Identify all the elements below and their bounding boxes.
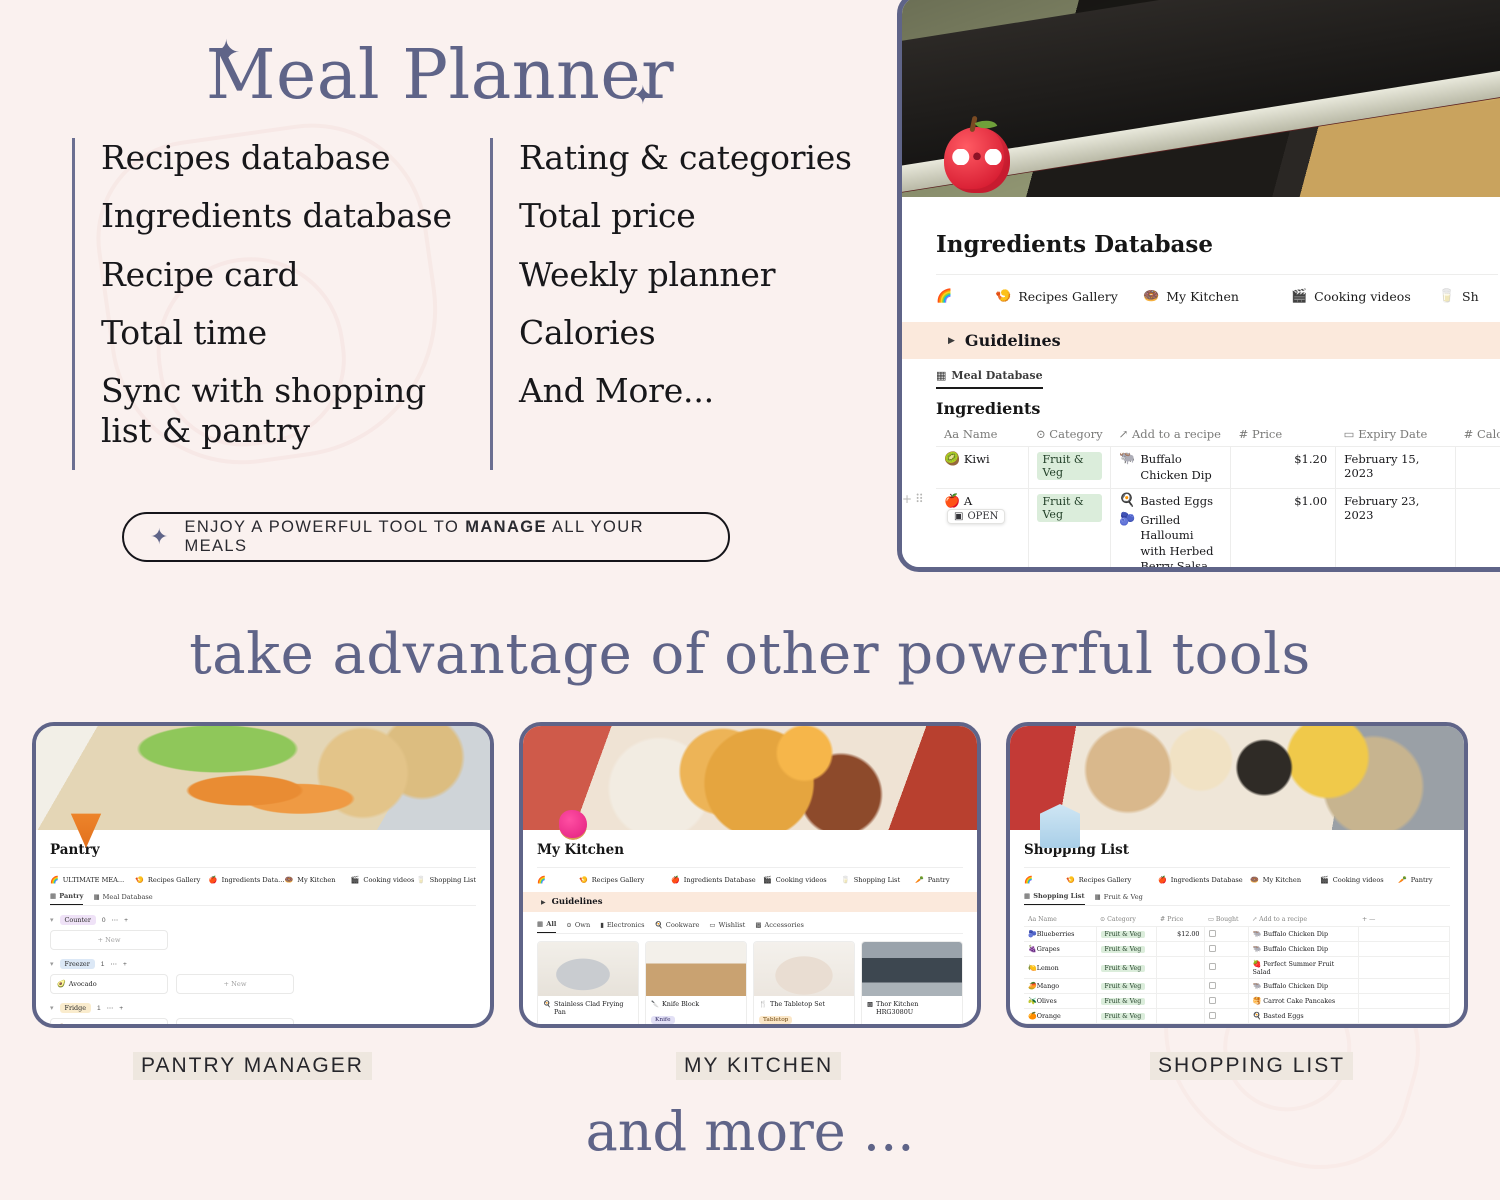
table-row[interactable]: 🥝 Kiwi Fruit & Veg 🐃Buffalo Chicken Dip … [936, 447, 1500, 489]
nav-item-recipes-gallery[interactable]: 🍤Recipes Gallery [1066, 876, 1158, 884]
pantry-manager-card: Pantry 🌈ULTIMATE MEA... 🍤Recipes Gallery… [32, 722, 494, 1028]
open-button[interactable]: ▣OPEN [947, 509, 1005, 524]
group-header[interactable]: ▾ Freezer 1 ⋯ + [50, 959, 476, 969]
column-header-calories[interactable]: # Calorie [1456, 422, 1500, 447]
product-card[interactable]: 🍳Stainless Clad Frying Pan Cookware Made… [537, 941, 639, 1028]
feature-item: Recipes database [101, 138, 468, 178]
tab-fruit-veg[interactable]: ▦Fruit & Veg [1095, 892, 1143, 905]
cell-price[interactable] [1156, 994, 1204, 1009]
group-items: + New [50, 930, 476, 950]
product-tag: Tabletop [759, 1016, 792, 1024]
table-row[interactable]: 🍑Peach Fruit & Veg 🥑 Guacamole [1024, 1024, 1450, 1029]
cell-expiry[interactable]: February 15, 2023 [1336, 447, 1456, 489]
table-header-row: Aa Name ⊙ Category # Price ▭ Bought ↗ Ad… [1024, 913, 1450, 927]
category-badge: Fruit & Veg [1101, 998, 1146, 1005]
nav-label: Recipes Gallery [1018, 289, 1117, 304]
tab-meal-database[interactable]: ▦Meal Database [93, 892, 152, 905]
feature-item: And More... [519, 371, 860, 411]
nav-label: Ingredients Data... [222, 876, 285, 884]
pantry-body: Pantry 🌈ULTIMATE MEA... 🍤Recipes Gallery… [36, 830, 490, 1028]
nav-item-my-kitchen[interactable]: 🍩My Kitchen [1250, 876, 1320, 884]
column-header-actions[interactable]: + — [1358, 913, 1450, 927]
gallery-icon: ▦ [537, 920, 543, 928]
ingredient-name: A [964, 494, 972, 508]
tab-shopping-list[interactable]: ▦Shopping List [1024, 892, 1085, 905]
product-name: Knife Block [662, 1000, 699, 1008]
group-items: 🥑Avocado + New [50, 974, 476, 994]
date-icon: ▭ [1344, 427, 1355, 441]
pan-icon: 🍳 [655, 921, 663, 929]
column-header-add-to-recipe[interactable]: ↗ Add to a recipe [1111, 422, 1231, 447]
product-info: 🍳Stainless Clad Frying Pan Cookware Made… [538, 996, 638, 1028]
page-nav: 🌈ULTIMATE MEA... 🍤Recipes Gallery 🍎Ingre… [50, 867, 476, 884]
nav-label: My Kitchen [1166, 289, 1239, 304]
bought-checkbox[interactable] [1209, 1012, 1216, 1019]
guidelines-label: Guidelines [552, 897, 603, 907]
page-nav: 🌈 🍤 Recipes Gallery 🍩 My Kitchen 🎬 Cooki… [936, 274, 1498, 314]
column-header-name[interactable]: Aa Name [936, 422, 1028, 447]
guidelines-label: Guidelines [965, 331, 1061, 350]
nav-label: Sh [1462, 289, 1479, 304]
bought-checkbox[interactable] [1209, 930, 1216, 937]
number-icon: # [1160, 916, 1165, 923]
product-info: 🍴The Tabletop Set Tabletop Made in $599.… [754, 996, 854, 1028]
tab-label: Pantry [59, 892, 83, 900]
group-count: 1 [101, 961, 105, 968]
cell-recipe[interactable]: 🐃 Buffalo Chicken Dip [1248, 927, 1358, 942]
cell-actions[interactable] [1358, 1009, 1450, 1024]
pancake-icon: 🥞 [1253, 997, 1262, 1005]
bought-checkbox[interactable] [1209, 1027, 1216, 1029]
column-header-bought[interactable]: ▭ Bought [1204, 913, 1248, 927]
product-info: 🔪Knife Block Knife Made in Urgent $129.0… [646, 996, 746, 1028]
product-card[interactable]: ▩Thor Kitchen HRG3080U Electronics Thor … [861, 941, 963, 1028]
nav-item-cooking-videos[interactable]: 🎬Cooking videos [351, 876, 417, 884]
berry-icon: 🫐 [1119, 513, 1135, 526]
cell-name[interactable]: +⠿ 🍎 A ▣OPEN [936, 489, 1028, 572]
chevron-right-icon: ▶ [948, 335, 955, 346]
cell-actions[interactable] [1358, 927, 1450, 942]
apple-icon: 🍎 [671, 876, 680, 884]
list-icon: ▭ [709, 921, 715, 929]
cell-category[interactable]: Fruit & Veg [1096, 994, 1156, 1009]
relation-icon: ↗ [1119, 427, 1129, 441]
rainbow-icon: 🌈 [1024, 876, 1033, 884]
recipe-link[interactable]: Carrot Cake Pancakes [1263, 997, 1335, 1005]
cell-expiry[interactable]: February 23, 2023 [1336, 489, 1456, 572]
more-icon[interactable]: ⋯ [107, 1004, 114, 1012]
cell-name[interactable]: 🍋Lemon [1024, 957, 1096, 979]
add-icon[interactable]: + [124, 917, 128, 924]
cell-category[interactable]: Fruit & Veg [1096, 927, 1156, 942]
group-name: Freezer [60, 959, 95, 969]
collapse-icon[interactable]: ▾ [50, 1004, 54, 1012]
feature-item: Weekly planner [519, 255, 860, 295]
group-count: 1 [97, 1005, 101, 1012]
column-label: Bought [1216, 916, 1239, 923]
product-name: Stainless Clad Frying Pan [554, 1000, 633, 1016]
nav-label: Cooking videos [1333, 876, 1384, 884]
footer-heading: and more ... [0, 1100, 1500, 1163]
item-name: Olives [1037, 997, 1057, 1005]
tab-label: Meal Database [103, 893, 153, 901]
clapper-icon: 🎬 [1291, 290, 1307, 303]
number-icon: # [1239, 427, 1249, 441]
product-info: ▩Thor Kitchen HRG3080U Electronics Thor … [862, 996, 962, 1028]
column-header-name[interactable]: Aa Name [1024, 913, 1096, 927]
cell-category[interactable]: Fruit & Veg [1096, 942, 1156, 957]
nav-item-ingredients-database[interactable]: 🍎Ingredients Database [671, 876, 763, 884]
nav-item-my-kitchen[interactable]: 🍩My Kitchen [284, 876, 350, 884]
egg-icon: 🍳 [1253, 1012, 1262, 1020]
product-name: The Tabletop Set [770, 1000, 825, 1008]
cell-price[interactable] [1156, 979, 1204, 994]
ingredients-database-device: Ingredients Database 🌈 🍤 Recipes Gallery… [897, 0, 1500, 572]
table-row[interactable]: 🫐Blueberries Fruit & Veg $12.00 🐃 Buffal… [1024, 927, 1450, 942]
nav-label: Ingredients Database [1171, 876, 1243, 884]
page-heading: Pantry [50, 842, 476, 858]
nav-label: Cooking videos [776, 876, 827, 884]
guidelines-toggle[interactable]: ▶ Guidelines [523, 892, 977, 912]
cell-name[interactable]: 🍊Orange [1024, 1009, 1096, 1024]
column-header-add-to-recipe[interactable]: ↗ Add to a recipe [1248, 913, 1358, 927]
section-heading: Ingredients [936, 399, 1498, 418]
database-tabs: ▦Shopping List ▦Fruit & Veg [1024, 892, 1450, 906]
aa-icon: Aa [944, 427, 959, 441]
nav-item-home[interactable]: 🌈 [1024, 876, 1066, 884]
cell-recipes[interactable]: 🍳Basted Eggs 🫐Grilled Halloumi with Herb… [1111, 489, 1231, 572]
cell-name[interactable]: 🥝 Kiwi [936, 447, 1028, 489]
category-badge: Fruit & Veg [1037, 494, 1103, 522]
donut-icon [553, 804, 593, 848]
tab-all[interactable]: ▦All [537, 920, 556, 933]
add-column-icon[interactable]: + [1362, 916, 1367, 923]
table-row[interactable]: +⠿ 🍎 A ▣OPEN Fruit & Veg 🍳Basted Eggs 🫐G… [936, 489, 1500, 572]
group-items: 🥝Kiwi + New [50, 1018, 476, 1028]
cell-name[interactable]: 🥭Mango [1024, 979, 1096, 994]
more-icon[interactable]: ⋯ [110, 960, 117, 968]
group-header[interactable]: ▾ Fridge 1 ⋯ + [50, 1003, 476, 1013]
nav-item-cooking-videos[interactable]: 🎬Cooking videos [1320, 876, 1398, 884]
nav-label: Cooking videos [1314, 289, 1411, 304]
kiwi-icon: 🥝 [57, 1024, 66, 1028]
nav-item-ingredients-database[interactable]: 🍎Ingredients Database [1158, 876, 1250, 884]
cell-price[interactable] [1156, 1024, 1204, 1029]
bought-checkbox[interactable] [1209, 982, 1216, 989]
cover-photo-vegetables [36, 726, 490, 830]
table-row[interactable]: 🫒Olives Fruit & Veg 🥞 Carrot Cake Pancak… [1024, 994, 1450, 1009]
clapper-icon: 🎬 [351, 876, 360, 884]
pantry-group-fridge: ▾ Fridge 1 ⋯ + 🥝Kiwi + New [50, 1003, 476, 1028]
feature-item: Calories [519, 313, 860, 353]
nav-item-shopping-list[interactable]: 🥛Shopping List [417, 876, 476, 884]
cell-actions[interactable] [1358, 979, 1450, 994]
recipe-link[interactable]: Basted Eggs [1140, 494, 1213, 510]
milk-icon: 🥛 [1439, 290, 1455, 303]
cell-recipe[interactable]: 🐃 Buffalo Chicken Dip [1248, 979, 1358, 994]
column-label: Category [1107, 916, 1136, 923]
add-new-item-button[interactable]: + New [176, 974, 294, 994]
nav-item-cooking-videos[interactable]: 🎬 Cooking videos [1291, 289, 1439, 304]
cell-bought[interactable] [1204, 927, 1248, 942]
cell-category[interactable]: Fruit & Veg [1096, 1024, 1156, 1029]
apple-icon: 🍎 [944, 494, 960, 509]
cell-actions[interactable] [1358, 1024, 1450, 1029]
nav-item-ultimate-meal[interactable]: 🌈ULTIMATE MEA... [50, 876, 135, 884]
cell-price[interactable]: $1.00 [1231, 489, 1336, 572]
grid-icon: ▩ [867, 1000, 873, 1016]
cell-calories[interactable] [1456, 489, 1500, 572]
product-image-frying-pan [538, 942, 638, 996]
strawberry-icon: 🍓 [1253, 960, 1262, 968]
tab-electronics[interactable]: ▮Electronics [600, 920, 644, 933]
column-header-category[interactable]: ⊙ Category [1028, 422, 1111, 447]
nav-item-home[interactable]: 🌈 [936, 290, 995, 303]
feature-item: Recipe card [101, 255, 468, 295]
nav-item-my-kitchen[interactable]: 🍩 My Kitchen [1143, 289, 1291, 304]
number-icon: # [1464, 427, 1474, 441]
cell-name[interactable]: 🫐Blueberries [1024, 927, 1096, 942]
olive-icon: 🫒 [1028, 997, 1037, 1005]
nav-item-pantry[interactable]: 🥕Pantry [915, 876, 950, 884]
cover-photo-ramen [523, 726, 977, 830]
cell-bought[interactable] [1204, 942, 1248, 957]
checkbox-icon: ▭ [1208, 916, 1214, 923]
cell-category[interactable]: Fruit & Veg [1096, 979, 1156, 994]
cell-actions[interactable] [1358, 957, 1450, 979]
ingredient-name: Kiwi [964, 452, 990, 466]
nav-item-pantry[interactable]: 🥕Pantry [1398, 876, 1433, 884]
group-name: Counter [60, 915, 96, 925]
list-item[interactable]: 🥑Avocado [50, 974, 168, 994]
recipe-link[interactable]: Grilled Halloumi with Herbed Berry Salsa [1140, 513, 1222, 572]
cta-banner[interactable]: ✦ ENJOY A POWERFUL TOOL TO MANAGE ALL YO… [122, 512, 730, 562]
cell-price[interactable]: $1.20 [1231, 447, 1336, 489]
expand-icon: ▣ [954, 511, 963, 522]
cell-category[interactable]: Fruit & Veg [1096, 957, 1156, 979]
tab-own[interactable]: ⊙Own [566, 920, 590, 933]
nav-item-recipes-gallery[interactable]: 🍤Recipes Gallery [135, 876, 209, 884]
apple-icon: 🍎 [1158, 876, 1167, 884]
bought-checkbox[interactable] [1209, 945, 1216, 952]
egg-icon: 🍳 [1119, 494, 1135, 507]
cta-prefix: ENJOY A POWERFUL TOOL TO [184, 518, 465, 536]
donut-icon: 🍩 [1250, 876, 1259, 884]
nav-item-ingredients-database[interactable]: 🍎Ingredients Data... [209, 876, 285, 884]
column-header-price[interactable]: # Price [1231, 422, 1336, 447]
cell-bought[interactable] [1204, 1024, 1248, 1029]
buffalo-icon: 🐃 [1253, 945, 1262, 953]
bought-checkbox[interactable] [1209, 963, 1216, 970]
product-image-tabletop-set [754, 942, 854, 996]
nav-item-cooking-videos[interactable]: 🎬Cooking videos [763, 876, 841, 884]
cell-category[interactable]: Fruit & Veg [1028, 489, 1111, 572]
table-row[interactable]: 🍇Grapes Fruit & Veg 🐃 Buffalo Chicken Di… [1024, 942, 1450, 957]
peach-icon: 🍑 [1028, 1027, 1037, 1028]
clapper-icon: 🎬 [763, 876, 772, 884]
product-name-row: 🍴The Tabletop Set [759, 1000, 849, 1008]
feature-item: Ingredients database [101, 196, 468, 236]
bought-checkbox[interactable] [1209, 997, 1216, 1004]
cell-recipe[interactable]: 🍳 Basted Eggs [1248, 1009, 1358, 1024]
cell-actions[interactable] [1358, 942, 1450, 957]
cell-name[interactable]: 🍑Peach [1024, 1024, 1096, 1029]
recipe-link[interactable]: Buffalo Chicken Dip [1263, 945, 1328, 953]
cell-category[interactable]: Fruit & Veg [1096, 1009, 1156, 1024]
cutlery-icon: 🍴 [759, 1000, 767, 1008]
table-icon: ▦ [50, 892, 56, 900]
recipe-link[interactable]: Basted Eggs [1263, 1012, 1303, 1020]
table-row[interactable]: 🍋Lemon Fruit & Veg 🍓 Perfect Summer Frui… [1024, 957, 1450, 979]
column-label: Name [1038, 916, 1057, 923]
product-name-row: 🍳Stainless Clad Frying Pan [543, 1000, 633, 1016]
nav-label: My Kitchen [1263, 876, 1301, 884]
recipe-link[interactable]: Perfect Summer Fruit Salad [1253, 960, 1335, 976]
tab-wishlist[interactable]: ▭Wishlist [709, 920, 745, 933]
view-tabs: ▦All ⊙Own ▮Electronics 🍳Cookware ▭Wishli… [537, 920, 963, 934]
row-drag-handle[interactable]: +⠿ [902, 492, 927, 506]
tab-pantry[interactable]: ▦Pantry [50, 892, 83, 905]
cell-actions[interactable] [1358, 994, 1450, 1009]
cell-recipe[interactable]: 🍓 Perfect Summer Fruit Salad [1248, 957, 1358, 979]
product-gallery: 🍳Stainless Clad Frying Pan Cookware Made… [537, 941, 963, 1028]
add-new-item-button[interactable]: + New [176, 1018, 294, 1028]
carrot-icon: 🥕 [1398, 876, 1407, 884]
tab-cookware[interactable]: 🍳Cookware [655, 920, 700, 933]
product-card[interactable]: 🍴The Tabletop Set Tabletop Made in $599.… [753, 941, 855, 1028]
table-icon: ▦ [1095, 893, 1101, 901]
collapse-icon[interactable]: ▾ [50, 916, 54, 924]
page-nav: 🌈 🍤Recipes Gallery 🍎Ingredients Database… [537, 867, 963, 884]
cell-name[interactable]: 🍇Grapes [1024, 942, 1096, 957]
circle-icon: ⊙ [566, 921, 572, 929]
list-item[interactable]: 🥝Kiwi [50, 1018, 168, 1028]
cell-bought[interactable] [1204, 979, 1248, 994]
tab-label: Fruit & Veg [1104, 893, 1143, 901]
collapse-icon[interactable]: — [1369, 916, 1375, 923]
cell-bought[interactable] [1204, 994, 1248, 1009]
nav-label: Recipes Gallery [592, 876, 644, 884]
cell-recipe[interactable]: 🥞 Carrot Cake Pancakes [1248, 994, 1358, 1009]
cell-price[interactable]: $12.00 [1156, 927, 1204, 942]
rainbow-icon: 🌈 [936, 290, 952, 303]
ramen-photo [523, 726, 977, 830]
recipe-link[interactable]: Buffalo Chicken Dip [1140, 452, 1222, 483]
nav-item-shopping-list[interactable]: 🥛 Sh [1439, 289, 1498, 304]
guidelines-toggle[interactable]: ▶ Guidelines [902, 322, 1500, 359]
feature-item: Total price [519, 196, 860, 236]
table-row[interactable]: 🍊Orange Fruit & Veg 🍳 Basted Eggs [1024, 1009, 1450, 1024]
cell-calories[interactable] [1456, 447, 1500, 489]
cta-text: ENJOY A POWERFUL TOOL TO MANAGE ALL YOUR… [184, 518, 702, 556]
nav-item-recipes-gallery[interactable]: 🍤 Recipes Gallery [995, 289, 1143, 304]
recipe-link[interactable]: Guacamole [1263, 1027, 1299, 1028]
cell-price[interactable] [1156, 1009, 1204, 1024]
device-icon: ▮ [600, 921, 604, 929]
product-name: Thor Kitchen HRG3080U [876, 1000, 957, 1016]
product-tag: Knife [651, 1016, 675, 1024]
tab-accessories[interactable]: ▩Accessories [755, 920, 804, 933]
column-header-category[interactable]: ⊙ Category [1096, 913, 1156, 927]
nav-item-home[interactable]: 🌈 [537, 876, 579, 884]
buffalo-icon: 🐃 [1253, 982, 1262, 990]
tab-meal-database[interactable]: ▦ Meal Database [936, 369, 1043, 389]
aa-icon: Aa [1028, 916, 1036, 923]
item-name: Peach [1037, 1027, 1056, 1028]
nav-label: My Kitchen [297, 876, 335, 884]
shrimp-icon: 🍤 [579, 876, 588, 884]
page-nav: 🌈 🍤Recipes Gallery 🍎Ingredients Database… [1024, 867, 1450, 884]
recipe-link[interactable]: Buffalo Chicken Dip [1263, 930, 1328, 938]
product-name-row: 🔪Knife Block [651, 1000, 741, 1008]
feature-item: Sync with shopping list & pantry [101, 371, 468, 452]
collapse-icon[interactable]: ▾ [50, 960, 54, 968]
column-header-price[interactable]: # Price [1156, 913, 1204, 927]
tab-label: Electronics [607, 921, 645, 929]
blueberry-icon: 🫐 [1028, 930, 1037, 938]
group-count: 0 [102, 917, 106, 924]
table-icon: ▦ [1024, 892, 1030, 900]
sparkle-icon: ✦ [150, 524, 168, 550]
nav-item-shopping-list[interactable]: 🥛Shopping List [841, 876, 915, 884]
cell-name[interactable]: 🫒Olives [1024, 994, 1096, 1009]
orange-icon: 🍊 [1028, 1012, 1037, 1020]
add-icon[interactable]: + [119, 1005, 123, 1012]
column-label: Add to a recipe [1132, 427, 1221, 441]
select-icon: ⊙ [1100, 916, 1105, 923]
cell-recipe[interactable]: 🐃 Buffalo Chicken Dip [1248, 942, 1358, 957]
recipe-link[interactable]: Buffalo Chicken Dip [1263, 982, 1328, 990]
nav-label: Shopping List [854, 876, 900, 884]
category-badge: Fruit & Veg [1037, 452, 1103, 480]
tab-label: Shopping List [1033, 892, 1084, 900]
column-header-expiry-date[interactable]: ▭ Expiry Date [1336, 422, 1456, 447]
item-name: Lemon [1037, 964, 1059, 972]
more-icon[interactable]: ⋯ [112, 916, 119, 924]
cell-recipes[interactable]: 🐃Buffalo Chicken Dip [1111, 447, 1231, 489]
apple-icon: 🍎 [209, 876, 218, 884]
nav-label: Recipes Gallery [1079, 876, 1131, 884]
cell-bought[interactable] [1204, 957, 1248, 979]
cell-category[interactable]: Fruit & Veg [1028, 447, 1111, 489]
column-label: Calorie [1477, 427, 1500, 441]
pantry-group-counter: ▾ Counter 0 ⋯ + + New [50, 915, 476, 950]
nav-label: Pantry [928, 876, 950, 884]
group-header[interactable]: ▾ Counter 0 ⋯ + [50, 915, 476, 925]
column-label: Price [1167, 916, 1183, 923]
category-badge: Fruit & Veg [1101, 1013, 1146, 1020]
category-badge: Fruit & Veg [1101, 931, 1146, 938]
item-name: Blueberries [1037, 930, 1075, 938]
cell-price[interactable] [1156, 942, 1204, 957]
nav-item-recipes-gallery[interactable]: 🍤Recipes Gallery [579, 876, 671, 884]
column-label: Category [1049, 427, 1102, 441]
nav-label: Pantry [1411, 876, 1433, 884]
add-icon[interactable]: + [123, 961, 127, 968]
product-card[interactable]: 🔪Knife Block Knife Made in Urgent $129.0… [645, 941, 747, 1028]
column-label: Add to a recipe [1259, 916, 1307, 923]
database-tabs: ▦Pantry ▦Meal Database [50, 892, 476, 906]
product-tag: Electronics [867, 1024, 908, 1028]
category-badge: Fruit & Veg [1101, 965, 1146, 972]
table-row[interactable]: 🥭Mango Fruit & Veg 🐃 Buffalo Chicken Dip [1024, 979, 1450, 994]
add-new-item-button[interactable]: + New [50, 930, 168, 950]
cell-recipe[interactable]: 🥑 Guacamole [1248, 1024, 1358, 1029]
item-label: Avocado [69, 980, 97, 988]
cell-bought[interactable] [1204, 1009, 1248, 1024]
tab-label: Wishlist [719, 921, 746, 929]
cell-price[interactable] [1156, 957, 1204, 979]
